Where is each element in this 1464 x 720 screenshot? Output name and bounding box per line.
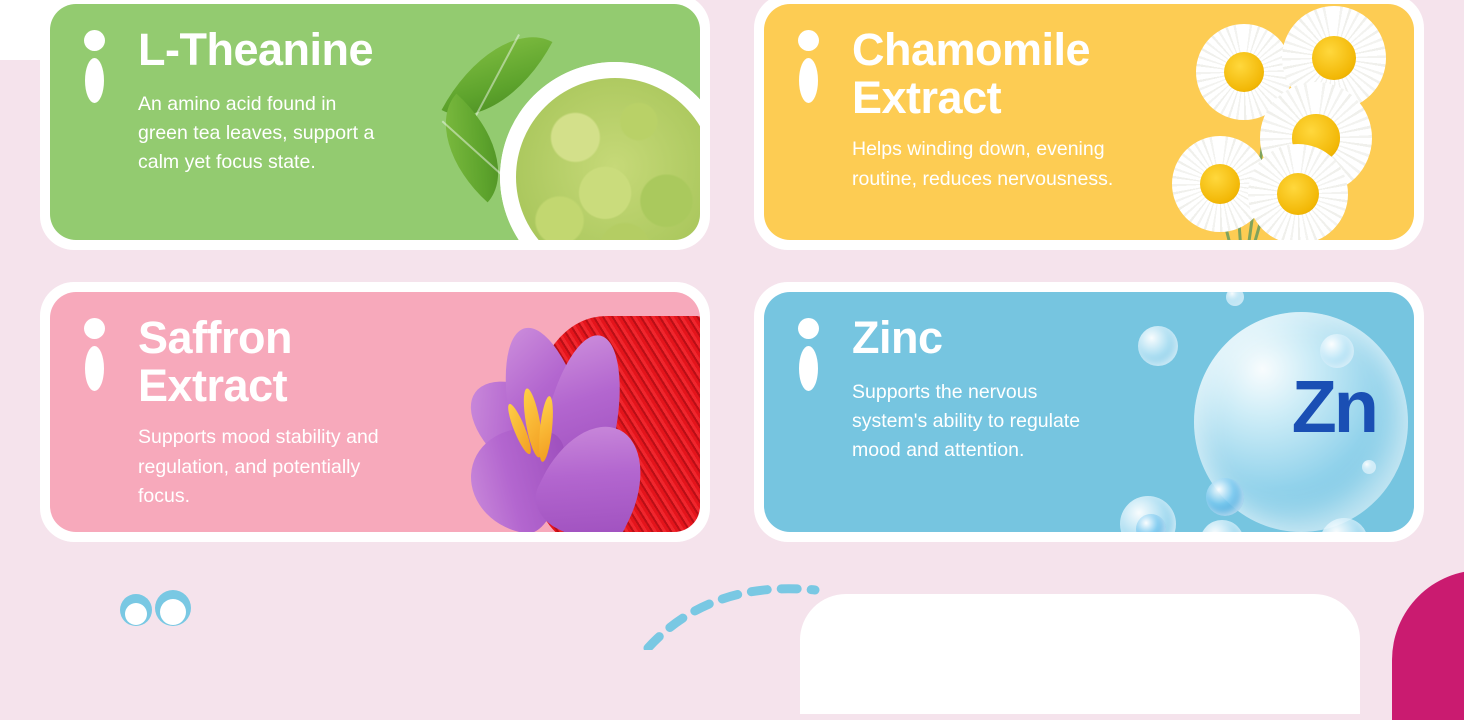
info-icon [794,318,820,392]
card-title: Chamomile Extract [852,26,1144,121]
decorative-white-panel-bottom [800,594,1360,714]
decorative-dashed-arc [640,560,820,650]
card-text-block: Zinc Supports the nervous system's abili… [852,314,1144,465]
ingredient-card-zinc[interactable]: Zinc Supports the nervous system's abili… [764,292,1414,532]
decorative-magenta-shape-bottom-right [1392,570,1464,720]
card-title: L-Theanine [138,26,430,74]
zinc-symbol-label: Zn [1292,370,1376,444]
card-text-block: L-Theanine An amino acid found in green … [138,26,430,177]
ingredient-cards-grid: L-Theanine An amino acid found in green … [40,0,1424,542]
info-icon [80,318,106,392]
card-text-block: Saffron Extract Supports mood stability … [138,314,430,511]
zinc-water-drop-artwork: Zn [1114,292,1414,532]
daisy-flowers-artwork [1114,4,1414,240]
card-title: Zinc [852,314,1144,362]
matcha-green-tea-artwork [400,4,700,240]
card-description: An amino acid found in green tea leaves,… [138,90,430,178]
card-title: Saffron Extract [138,314,430,409]
ingredient-card-l-theanine[interactable]: L-Theanine An amino acid found in green … [50,4,700,240]
info-icon [80,30,106,104]
card-description: Helps winding down, evening routine, red… [852,135,1144,194]
card-frame-zinc: Zinc Supports the nervous system's abili… [754,282,1424,542]
card-description: Supports the nervous system's ability to… [852,378,1144,466]
card-frame-saffron-extract: Saffron Extract Supports mood stability … [40,282,710,542]
card-frame-chamomile-extract: Chamomile Extract Helps winding down, ev… [754,0,1424,250]
crocus-saffron-artwork [400,292,700,532]
card-text-block: Chamomile Extract Helps winding down, ev… [852,26,1144,194]
decorative-circles-bottom-left [118,588,198,628]
card-frame-l-theanine: L-Theanine An amino acid found in green … [40,0,710,250]
info-icon [794,30,820,104]
card-description: Supports mood stability and regulation, … [138,423,430,511]
ingredient-card-saffron-extract[interactable]: Saffron Extract Supports mood stability … [50,292,700,532]
ingredient-card-chamomile-extract[interactable]: Chamomile Extract Helps winding down, ev… [764,4,1414,240]
